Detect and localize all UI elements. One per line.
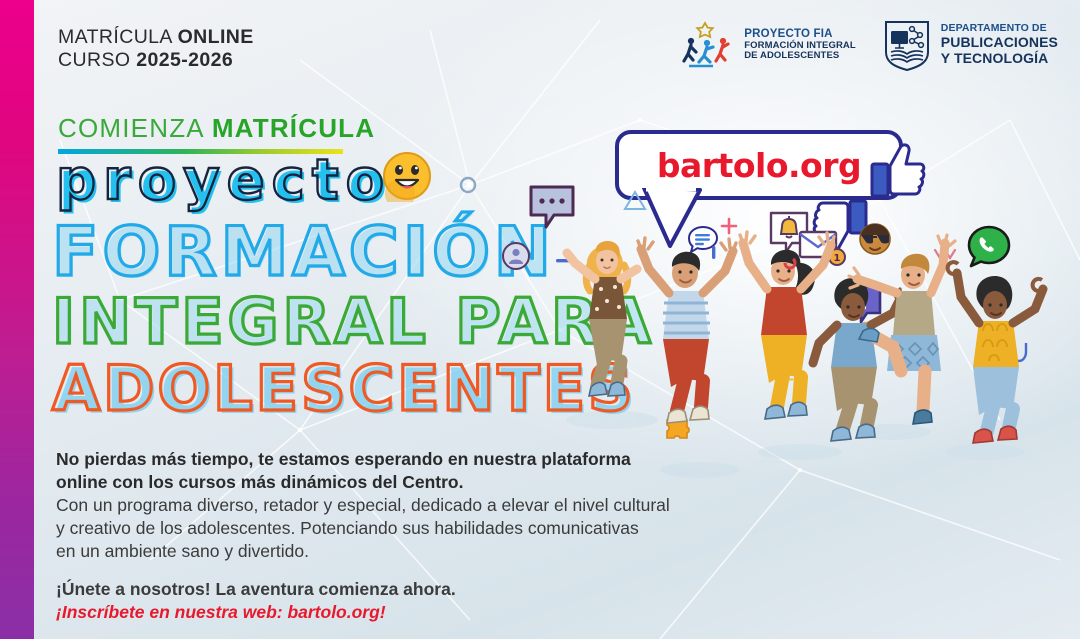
left-gradient-bar (0, 0, 34, 639)
body-line-3: en un ambiente sano y divertido. (56, 540, 776, 563)
shield-monitor-book-icon (882, 18, 932, 72)
teen-figure-2 (638, 238, 736, 423)
fia-logo-sub2: DE ADOLESCENTES (744, 51, 856, 62)
body-line-2: y creativo de los adolescentes. Potencia… (56, 517, 776, 540)
headline-proyecto: proyecto (56, 148, 391, 213)
jumping-teens-illustration (545, 215, 1055, 445)
smiley-emoji (381, 150, 433, 202)
departamento-publicaciones-logo: DEPARTAMENTO DE PUBLICACIONES Y TECNOLOG… (882, 18, 1058, 72)
dept-logo-sub1: PUBLICACIONES (941, 35, 1058, 51)
teen-figure-1 (567, 241, 637, 396)
thumbs-up-icon (870, 140, 926, 202)
fia-logo-text: PROYECTO FIA FORMACIÓN INTEGRAL DE ADOLE… (744, 28, 856, 62)
logo-group: PROYECTO FIA FORMACIÓN INTEGRAL DE ADOLE… (679, 18, 1058, 72)
teen-figure-6 (948, 262, 1043, 443)
matricula-line: MATRÍCULA ONLINE (58, 26, 254, 49)
promotional-banner: MATRÍCULA ONLINE CURSO 2025-2026 (0, 0, 1080, 639)
bubble-url-text: bartolo.org (657, 146, 861, 185)
body-copy: No pierdas más tiempo, te estamos espera… (56, 448, 776, 623)
fia-logo-title: PROYECTO FIA (744, 28, 856, 41)
user-circle-icon (501, 241, 531, 271)
lead-line-1: No pierdas más tiempo, te estamos espera… (56, 448, 776, 471)
fia-figures-icon (679, 19, 735, 71)
kicker-text: COMIENZA MATRÍCULA (58, 113, 375, 144)
course-meta: MATRÍCULA ONLINE CURSO 2025-2026 (58, 26, 254, 71)
lead-line-2: online con los cursos más dinámicos del … (56, 471, 776, 494)
headline-formacion: FORMACIÓN (52, 213, 555, 292)
dept-logo-sub2: Y TECNOLOGÍA (941, 51, 1058, 67)
curso-line: CURSO 2025-2026 (58, 49, 254, 72)
body-line-1: Con un programa diverso, retador y espec… (56, 494, 776, 517)
teen-figure-3 (740, 232, 834, 419)
cta-line-2[interactable]: ¡Inscríbete en nuestra web: bartolo.org! (56, 601, 776, 624)
cta-line-1: ¡Únete a nosotros! La aventura comienza … (56, 578, 776, 601)
dept-logo-text: DEPARTAMENTO DE PUBLICACIONES Y TECNOLOG… (941, 23, 1058, 66)
proyecto-fia-logo: PROYECTO FIA FORMACIÓN INTEGRAL DE ADOLE… (679, 19, 856, 71)
